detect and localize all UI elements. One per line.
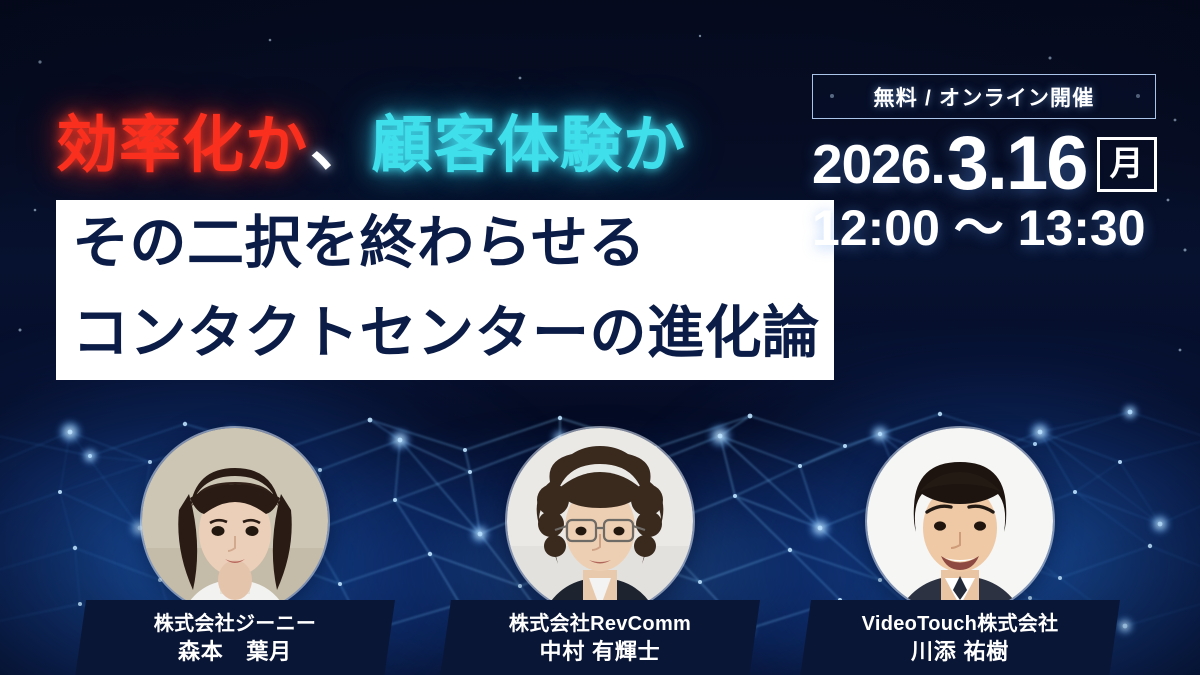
speakers-row: 株式会社ジーニー 森本 葉月 bbox=[0, 428, 1200, 675]
speaker-1-name: 森本 葉月 bbox=[178, 639, 292, 665]
speaker-1-org: 株式会社ジーニー bbox=[154, 613, 316, 637]
event-date: 2026. 3.16 月 bbox=[812, 128, 1157, 200]
speaker-3-portrait-graphic bbox=[867, 428, 1053, 614]
webinar-banner: 効率化か 、 顧客体験か その二択を終わらせる コンタクトセンターの進化論 無料… bbox=[0, 0, 1200, 675]
speaker-2-nameplate: 株式会社RevComm 中村 有輝士 bbox=[440, 600, 760, 675]
speaker-2-name: 中村 有輝士 bbox=[540, 639, 661, 665]
speaker-2-portrait-graphic bbox=[507, 428, 693, 614]
speaker-2-avatar bbox=[507, 428, 693, 614]
event-month-day: 3.16 bbox=[947, 126, 1087, 202]
title-line-1: その二択を終わらせる bbox=[72, 215, 646, 272]
speaker-3-org: VideoTouch株式会社 bbox=[862, 613, 1059, 637]
event-day-of-week-box: 月 bbox=[1097, 137, 1157, 192]
event-time-label: 12:00 ～ 13:30 bbox=[812, 203, 1146, 253]
speaker-1-nameplate: 株式会社ジーニー 森本 葉月 bbox=[75, 600, 395, 675]
headline-part-efficiency: 効率化か bbox=[56, 115, 308, 177]
event-format-label: 無料 / オンライン開催 bbox=[874, 82, 1095, 112]
title-line-2: コンタクトセンターの進化論 bbox=[72, 305, 820, 362]
speaker-1-avatar bbox=[142, 428, 328, 614]
event-year: 2026. bbox=[812, 137, 945, 192]
title-block: その二択を終わらせる コンタクトセンターの進化論 bbox=[56, 200, 834, 380]
headline-part-cx: 顧客体験か bbox=[371, 115, 686, 177]
speaker-3-name: 川添 祐樹 bbox=[911, 639, 1009, 665]
event-day-of-week: 月 bbox=[1110, 147, 1144, 181]
title-line-1-box: その二択を終わらせる bbox=[56, 200, 834, 290]
title-line-2-box: コンタクトセンターの進化論 bbox=[56, 290, 834, 380]
headline-separator: 、 bbox=[310, 117, 369, 175]
event-format-badge: 無料 / オンライン開催 bbox=[812, 74, 1156, 119]
speaker-3-avatar bbox=[867, 428, 1053, 614]
speaker-2-org: 株式会社RevComm bbox=[509, 613, 691, 637]
headline: 効率化か 、 顧客体験か bbox=[56, 108, 686, 184]
speaker-3-nameplate: VideoTouch株式会社 川添 祐樹 bbox=[800, 600, 1120, 675]
event-time: 12:00 ～ 13:30 bbox=[812, 200, 1146, 256]
speaker-1-portrait-graphic bbox=[142, 428, 328, 614]
